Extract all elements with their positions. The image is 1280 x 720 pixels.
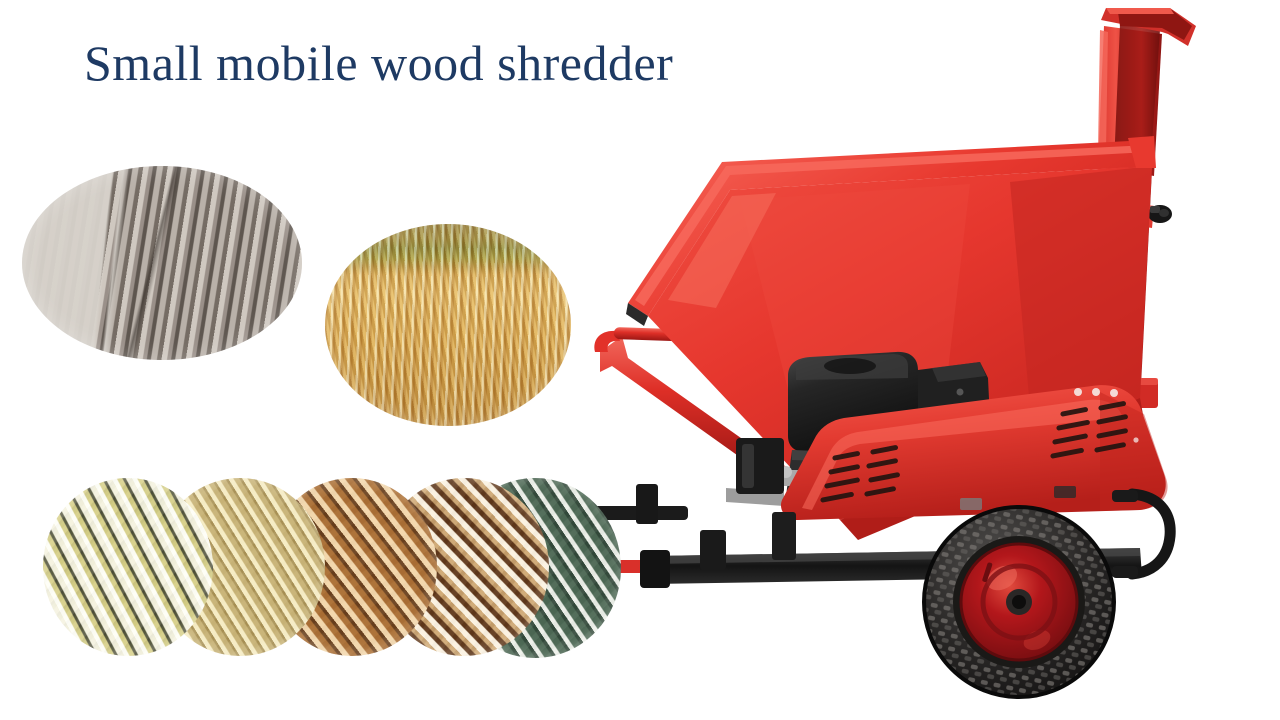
tree-branches-photo xyxy=(22,166,302,360)
chip-sample-mixed-green xyxy=(43,478,213,656)
wheel xyxy=(924,507,1114,697)
wheat-field-photo xyxy=(325,224,571,426)
wood-chipper-shredder xyxy=(540,0,1280,720)
poster-canvas: Small mobile wood shredder xyxy=(0,0,1280,720)
wheel-rim xyxy=(961,544,1077,660)
